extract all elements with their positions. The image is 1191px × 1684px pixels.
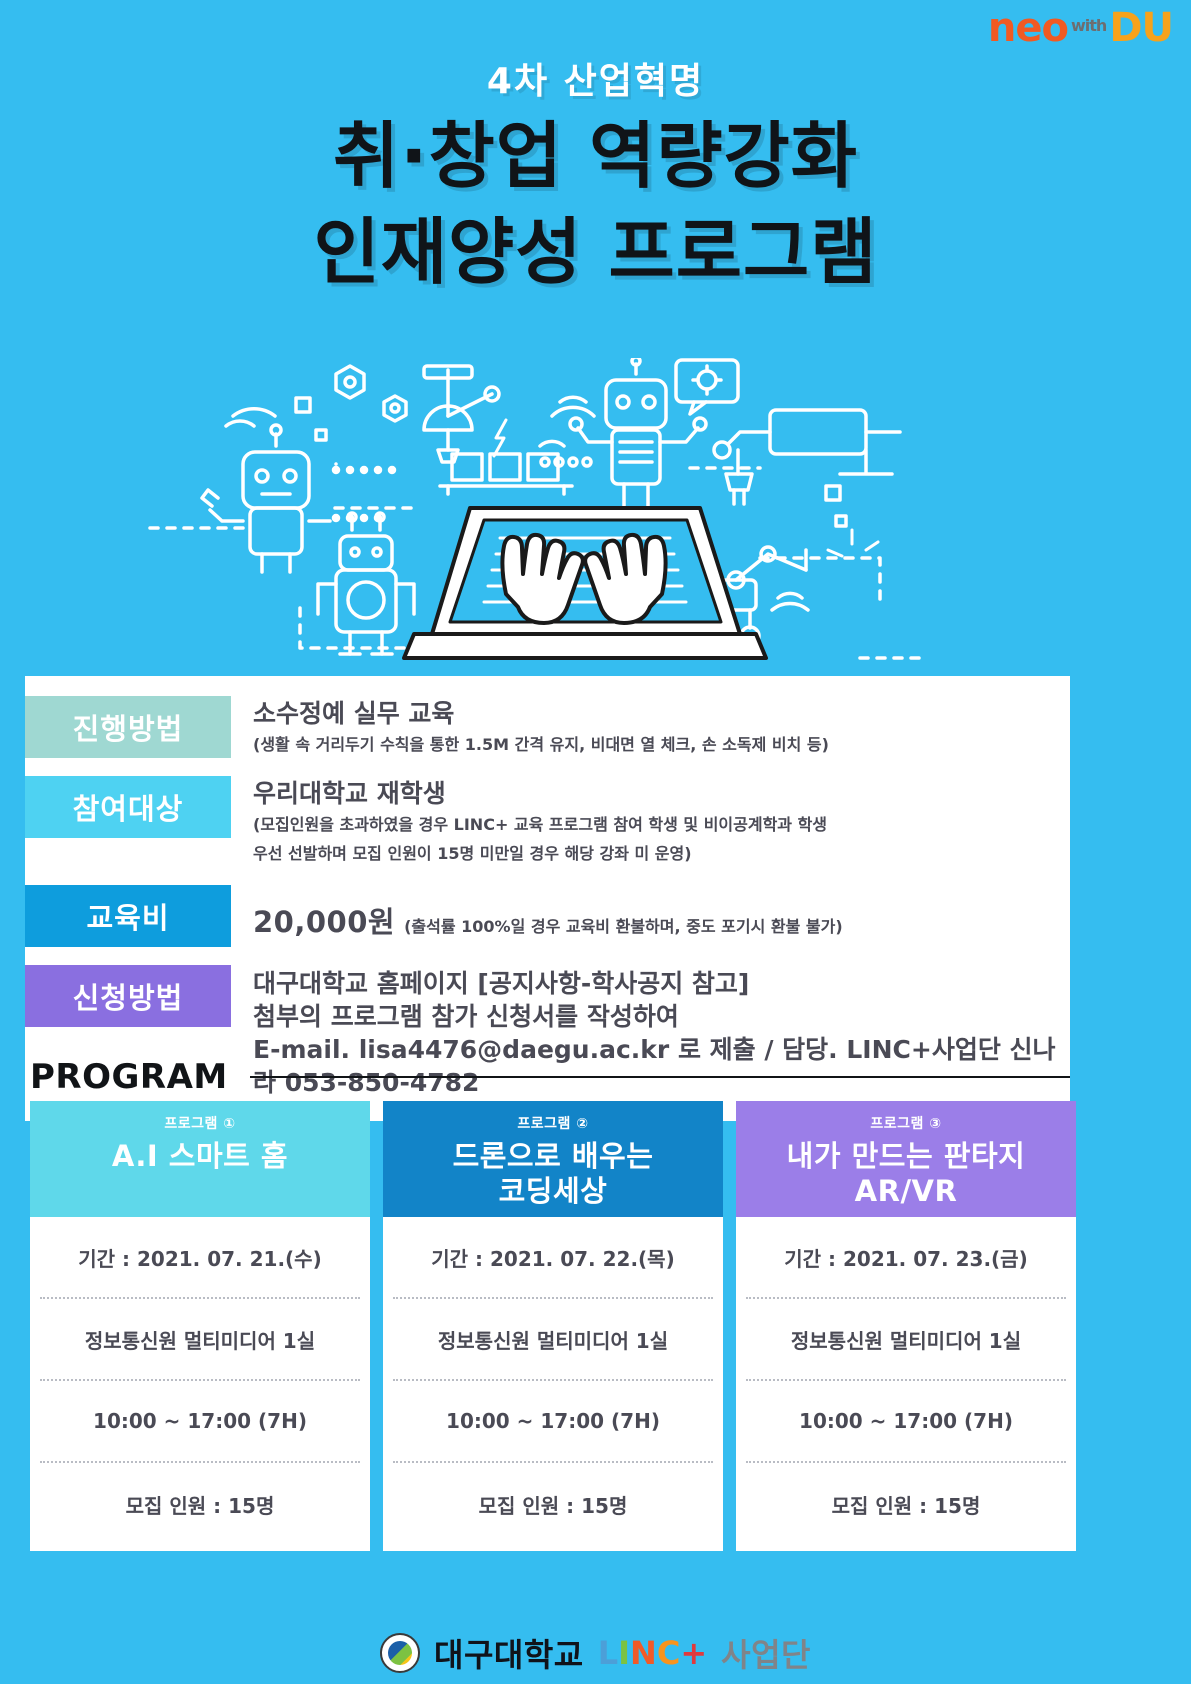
info-row-fee: 교육비 20,000원 (출석률 100%일 경우 교육비 환불하며, 중도 포… <box>25 885 1070 947</box>
program-card-period: 기간 : 2021. 07. 21.(수) <box>40 1217 360 1299</box>
footer-logos: 대구대학교 L I N C + 사업단 <box>0 1630 1191 1676</box>
target-sub-text-2: 우선 선발하며 모집 인원이 15명 미만일 경우 해당 강좌 미 운영) <box>253 842 1070 867</box>
fee-line: 20,000원 (출석률 100%일 경우 교육비 환불하며, 중도 포기시 환… <box>253 887 1070 941</box>
program-card-body: 기간 : 2021. 07. 23.(금) 정보통신원 멀티미디어 1실 10:… <box>736 1217 1076 1551</box>
program-card-header: 프로그램 ② 드론으로 배우는코딩세상 <box>383 1101 723 1217</box>
program-card-name: A.I 스마트 홈 <box>112 1139 288 1174</box>
info-label-method: 진행방법 <box>25 696 231 758</box>
program-card-index: 프로그램 ③ <box>870 1113 941 1133</box>
info-panel: 진행방법 소수정예 실무 교육 (생활 속 거리두기 수칙을 통한 1.5M 간… <box>25 676 1070 1121</box>
info-label-apply: 신청방법 <box>25 965 231 1027</box>
linc-plus-logo: L I N C + <box>598 1637 707 1669</box>
linc-suffix-text: 사업단 <box>721 1630 811 1676</box>
program-card[interactable]: 프로그램 ② 드론으로 배우는코딩세상 기간 : 2021. 07. 22.(목… <box>383 1101 723 1551</box>
program-card-time: 10:00 ~ 17:00 (7H) <box>746 1381 1066 1463</box>
linc-letter-c: C <box>657 1637 680 1669</box>
program-card-place: 정보통신원 멀티미디어 1실 <box>40 1299 360 1381</box>
logo-neo-text: neo <box>988 8 1068 48</box>
program-divider-rule <box>250 1076 1070 1078</box>
program-card-header: 프로그램 ③ 내가 만드는 판타지AR/VR <box>736 1101 1076 1217</box>
program-card-index: 프로그램 ① <box>164 1113 235 1133</box>
method-main-text: 소수정예 실무 교육 <box>253 698 1070 729</box>
info-body-method: 소수정예 실무 교육 (생활 속 거리두기 수칙을 통한 1.5M 간격 유지,… <box>231 696 1070 758</box>
program-card-place: 정보통신원 멀티미디어 1실 <box>746 1299 1066 1381</box>
apply-line-2: 첨부의 프로그램 참가 신청서를 작성하여 <box>253 1000 1070 1033</box>
headline-line-2: 인재양성 프로그램 <box>0 212 1191 293</box>
info-label-target: 참여대상 <box>25 776 231 838</box>
neo-with-du-logo: neo with DU <box>988 8 1173 48</box>
info-row-method: 진행방법 소수정예 실무 교육 (생활 속 거리두기 수칙을 통한 1.5M 간… <box>25 696 1070 758</box>
program-card-header: 프로그램 ① A.I 스마트 홈 <box>30 1101 370 1217</box>
program-card-capacity: 모집 인원 : 15명 <box>746 1463 1066 1545</box>
linc-letter-l: L <box>598 1637 618 1669</box>
program-card-name: 내가 만드는 판타지AR/VR <box>787 1139 1026 1209</box>
program-card-time: 10:00 ~ 17:00 (7H) <box>40 1381 360 1463</box>
headline-kicker: 4차 산업혁명 <box>0 62 1191 102</box>
program-section-header: PROGRAM <box>30 1057 1070 1097</box>
info-body-target: 우리대학교 재학생 (모집인원을 초과하였을 경우 LINC+ 교육 프로그램 … <box>231 776 1070 867</box>
program-card-body: 기간 : 2021. 07. 21.(수) 정보통신원 멀티미디어 1실 10:… <box>30 1217 370 1551</box>
linc-letter-i: I <box>618 1637 630 1669</box>
logo-with-text: with <box>1071 18 1106 34</box>
linc-letter-plus: + <box>680 1637 707 1669</box>
program-card-place: 정보통신원 멀티미디어 1실 <box>393 1299 713 1381</box>
daegu-university-seal-icon <box>380 1633 420 1673</box>
daegu-university-name: 대구대학교 <box>434 1630 584 1676</box>
program-card-body: 기간 : 2021. 07. 22.(목) 정보통신원 멀티미디어 1실 10:… <box>383 1217 723 1551</box>
seal-emblem-icon <box>388 1641 412 1665</box>
program-card-period: 기간 : 2021. 07. 22.(목) <box>393 1217 713 1299</box>
apply-line-1: 대구대학교 홈페이지 [공지사항-학사공지 참고] <box>253 967 1070 1000</box>
target-main-text: 우리대학교 재학생 <box>253 778 1070 809</box>
program-card-time: 10:00 ~ 17:00 (7H) <box>393 1381 713 1463</box>
program-card[interactable]: 프로그램 ① A.I 스마트 홈 기간 : 2021. 07. 21.(수) 정… <box>30 1101 370 1551</box>
program-card-capacity: 모집 인원 : 15명 <box>393 1463 713 1545</box>
info-body-fee: 20,000원 (출석률 100%일 경우 교육비 환불하며, 중도 포기시 환… <box>231 885 1070 941</box>
fee-note: (출석률 100%일 경우 교육비 환불하며, 중도 포기시 환불 불가) <box>404 913 843 937</box>
robotics-illustration <box>0 358 1191 680</box>
info-label-fee: 교육비 <box>25 885 231 947</box>
program-card-capacity: 모집 인원 : 15명 <box>40 1463 360 1545</box>
headline-line-1: 취·창업 역량강화 <box>0 116 1191 197</box>
program-card-index: 프로그램 ② <box>517 1113 588 1133</box>
poster-headline: 4차 산업혁명 취·창업 역량강화 인재양성 프로그램 <box>0 62 1191 293</box>
fee-amount: 20,000원 <box>253 899 395 941</box>
program-card-period: 기간 : 2021. 07. 23.(금) <box>746 1217 1066 1299</box>
program-card-name: 드론으로 배우는코딩세상 <box>453 1139 654 1209</box>
method-sub-text: (생활 속 거리두기 수칙을 통한 1.5M 간격 유지, 비대면 열 체크, … <box>253 733 1070 758</box>
linc-letter-n: N <box>630 1637 657 1669</box>
target-sub-text-1: (모집인원을 초과하였을 경우 LINC+ 교육 프로그램 참여 학생 및 비이… <box>253 813 1070 838</box>
info-row-target: 참여대상 우리대학교 재학생 (모집인원을 초과하였을 경우 LINC+ 교육 … <box>25 776 1070 867</box>
program-card[interactable]: 프로그램 ③ 내가 만드는 판타지AR/VR 기간 : 2021. 07. 23… <box>736 1101 1076 1551</box>
logo-du-text: DU <box>1109 8 1173 48</box>
program-card-list: 프로그램 ① A.I 스마트 홈 기간 : 2021. 07. 21.(수) 정… <box>30 1101 1161 1551</box>
program-section-title: PROGRAM <box>30 1057 228 1097</box>
